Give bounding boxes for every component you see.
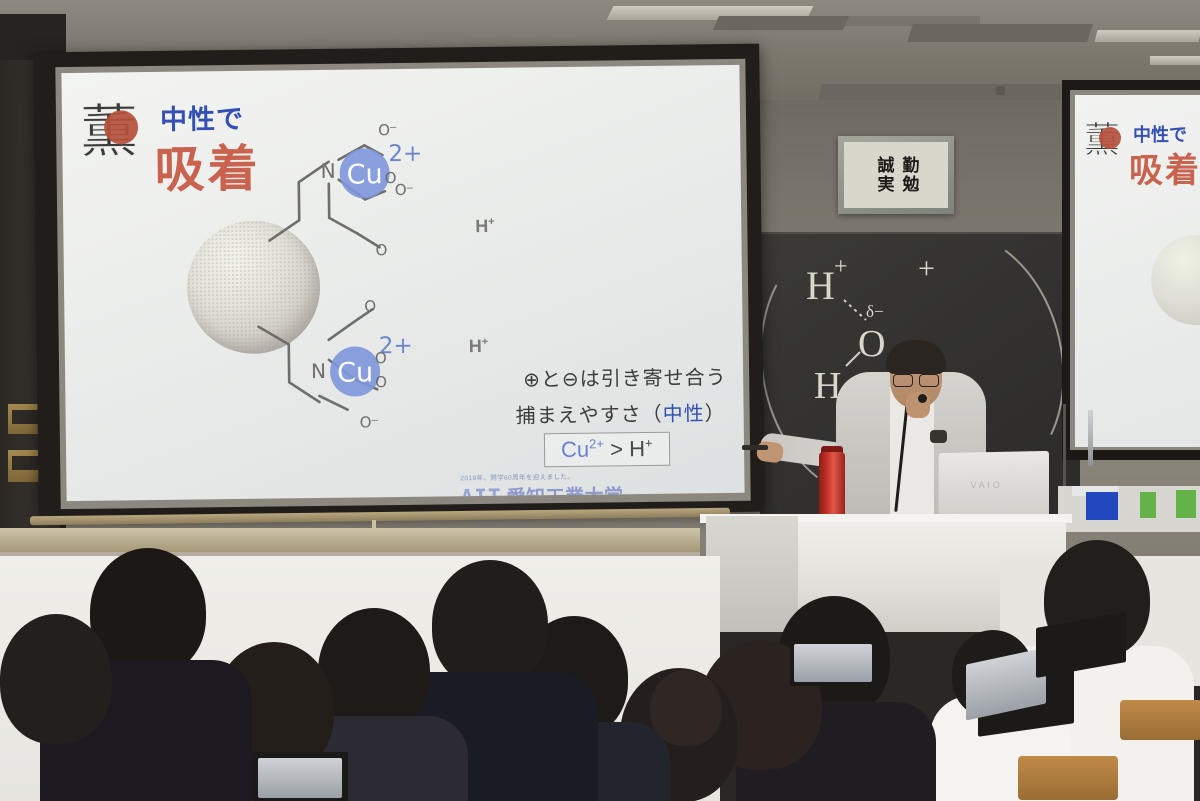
- secondary-screen-bezel: 薫 中性で 吸着: [1070, 90, 1200, 450]
- laser-pointer[interactable]: [742, 445, 768, 450]
- svg-text:O: O: [364, 297, 376, 315]
- plaque-left-column: 勤勉: [900, 156, 918, 194]
- projection-screen: 薫 中性で 吸着: [33, 44, 765, 521]
- student-head: [432, 560, 548, 688]
- svg-text:O: O: [375, 349, 387, 367]
- free-ion-h-plus-1: H+: [475, 216, 495, 237]
- secondary-projection-screen: 薫 中性で 吸着: [1062, 80, 1200, 460]
- svg-text:2+: 2+: [388, 141, 422, 167]
- ceiling-light: [1150, 56, 1200, 65]
- inequality-left: Cu2+: [561, 437, 604, 463]
- presenter-hair: [886, 340, 946, 374]
- slide-statement-line2: 捕まえやすさ（中性）: [515, 397, 725, 429]
- svg-text:Cu: Cu: [347, 159, 383, 190]
- svg-text:O: O: [376, 241, 388, 259]
- svg-text:N: N: [320, 159, 335, 183]
- svg-text:Cu: Cu: [337, 357, 373, 388]
- inequality-right: H+: [629, 436, 653, 461]
- ait-footer-logo: 2019年、開学60周年を迎えました。 AIT 愛知工業大学: [460, 470, 623, 501]
- secondary-kanji-stamp-icon: 薫: [1083, 117, 1121, 163]
- student-tablet-screen: [794, 644, 872, 682]
- stamp-red-dot-icon: [104, 110, 138, 144]
- ait-logo-text: AIT: [460, 485, 501, 501]
- slide-content: 薫 中性で 吸着: [61, 65, 744, 501]
- chair-back: [1018, 756, 1118, 800]
- statement-suffix: ）: [705, 403, 726, 425]
- wristwatch: [930, 430, 947, 443]
- secondary-adsorbent-particle: [1151, 235, 1200, 325]
- svg-text:–: –: [407, 182, 414, 194]
- slide-statement-line1: ⊕と⊖は引き寄せ合う: [523, 361, 727, 392]
- student-head: [0, 614, 112, 744]
- green-bottle: [1176, 490, 1196, 518]
- wall-calligraphy-plaque: 誠実 勤勉: [838, 136, 954, 214]
- svg-text:N: N: [311, 359, 326, 383]
- secondary-stamp-red-dot-icon: [1099, 127, 1121, 149]
- lab-stand: [1063, 404, 1066, 490]
- svg-text:O: O: [360, 413, 372, 431]
- ceiling-panel: [907, 24, 1093, 42]
- copper-chelate-bottom: N Cu 2+ O O O O –: [254, 290, 446, 442]
- secondary-slide-title: 吸着: [1129, 143, 1200, 192]
- plaque-right-column: 誠実: [875, 156, 893, 194]
- microphone[interactable]: [918, 394, 927, 403]
- lecture-hall-photo: 誠実 勤勉 H + δ− O H + 薫 中性で 吸着: [0, 0, 1200, 801]
- glasses-icon: [893, 374, 939, 386]
- kanji-stamp-icon: 薫: [78, 94, 141, 169]
- ceiling-light: [1095, 30, 1200, 42]
- green-bottle: [1140, 492, 1156, 518]
- secondary-slide-content: 薫 中性で 吸着: [1075, 95, 1200, 447]
- free-ion-h-plus-2: H+: [469, 336, 489, 357]
- ait-tagline: 2019年、開学60周年を迎えました。: [460, 470, 623, 482]
- student-head: [650, 670, 722, 746]
- inequality-box: Cu2+ > H+: [544, 432, 670, 468]
- statement-prefix: 捕まえやすさ（: [516, 404, 663, 428]
- statement-highlight: 中性: [663, 403, 705, 426]
- svg-text:O: O: [395, 181, 407, 199]
- student-laptop-screen: [258, 758, 342, 798]
- presenter-laptop[interactable]: VAIO: [939, 451, 1049, 521]
- svg-text:–: –: [390, 121, 397, 133]
- ceiling-panel: [713, 16, 849, 30]
- burette-icon: [1088, 410, 1093, 466]
- svg-text:–: –: [372, 414, 379, 426]
- copper-chelate-top: N Cu 2+ O – O O – O: [260, 120, 452, 272]
- ait-university-name: 愛知工業大学: [506, 481, 623, 501]
- chair-back: [1120, 700, 1200, 740]
- slide-title: 吸着: [154, 129, 261, 202]
- presenter-hand: [756, 440, 785, 463]
- svg-text:O: O: [378, 121, 390, 139]
- ceiling-panel: [830, 16, 980, 26]
- sprinkler-icon: [996, 86, 1005, 95]
- screen-bezel: 薫 中性で 吸着: [55, 59, 750, 509]
- svg-text:O: O: [375, 373, 387, 391]
- inequality-operator: >: [610, 437, 623, 462]
- blue-container: [1086, 492, 1118, 520]
- laptop-brand-label: VAIO: [971, 480, 1003, 490]
